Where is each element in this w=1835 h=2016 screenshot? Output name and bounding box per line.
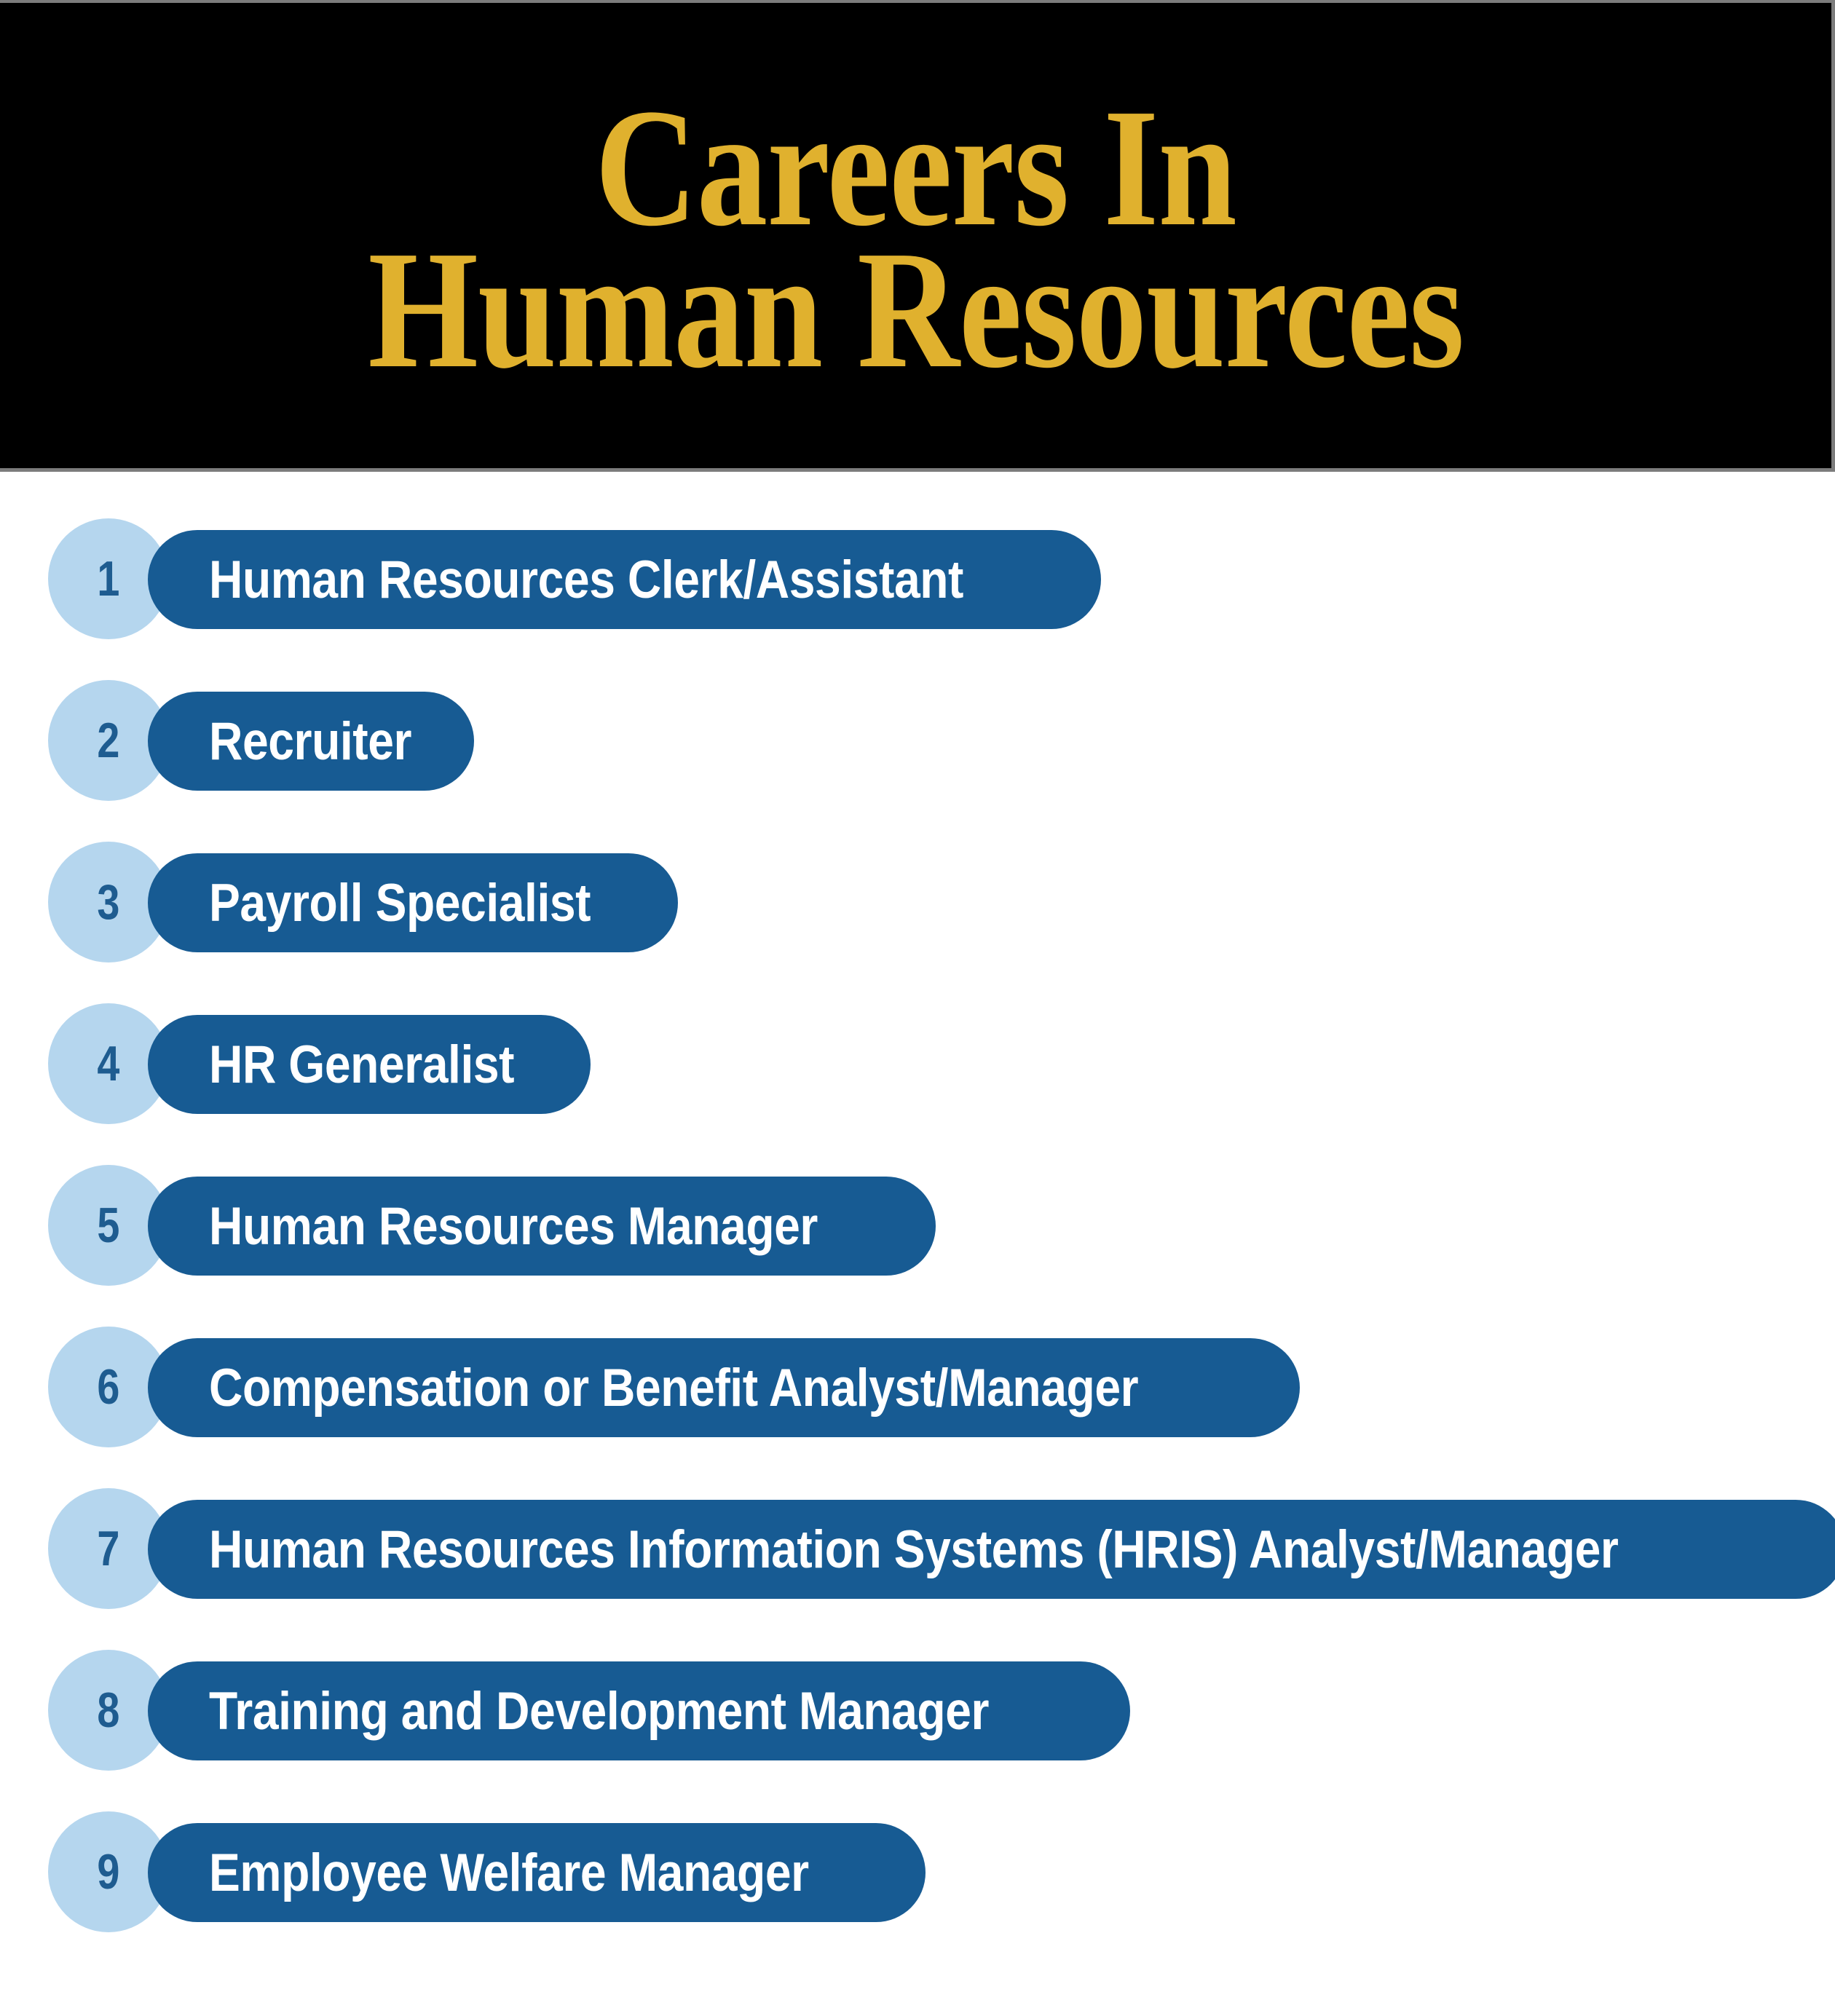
list-item-number: 9: [97, 1847, 119, 1897]
list-item-label: Human Resources Clerk/Assistant: [209, 553, 963, 606]
list-item-label: Human Resources Information Systems (HRI…: [209, 1523, 1618, 1576]
list-item-number: 6: [97, 1362, 119, 1412]
list-item-number: 7: [97, 1524, 119, 1573]
list-item-number: 1: [97, 554, 119, 604]
list-item[interactable]: 4 HR Generalist: [0, 995, 1835, 1156]
header-banner: Careers In Human Resources: [0, 0, 1835, 472]
career-list: 1 Human Resources Clerk/Assistant 2 Recr…: [0, 510, 1835, 1964]
list-item-pill[interactable]: Recruiter: [148, 692, 474, 791]
list-item-pill[interactable]: Payroll Specialist: [148, 853, 678, 952]
list-item-number: 5: [97, 1201, 119, 1250]
list-item[interactable]: 1 Human Resources Clerk/Assistant: [0, 510, 1835, 671]
list-item-pill[interactable]: Training and Development Manager: [148, 1661, 1130, 1760]
list-item[interactable]: 2 Recruiter: [0, 671, 1835, 833]
page-title-line-2: Human Resources: [368, 231, 1464, 390]
list-item[interactable]: 6 Compensation or Benefit Analyst/Manage…: [0, 1318, 1835, 1479]
list-item-pill[interactable]: Compensation or Benefit Analyst/Manager: [148, 1338, 1300, 1437]
list-item-number: 8: [97, 1685, 119, 1735]
list-item-label: Employee Welfare Manager: [209, 1846, 809, 1900]
list-item-label: Compensation or Benefit Analyst/Manager: [209, 1361, 1138, 1415]
list-item[interactable]: 8 Training and Development Manager: [0, 1641, 1835, 1803]
list-item-label: Payroll Specialist: [209, 877, 591, 930]
list-item-label: Recruiter: [209, 715, 411, 768]
list-item-label: Human Resources Manager: [209, 1200, 818, 1253]
list-item-number: 3: [97, 877, 119, 927]
list-item-pill[interactable]: Human Resources Manager: [148, 1177, 936, 1276]
list-item[interactable]: 5 Human Resources Manager: [0, 1156, 1835, 1318]
list-item-label: HR Generalist: [209, 1038, 514, 1091]
list-item-number: 4: [97, 1039, 119, 1088]
list-item[interactable]: 9 Employee Welfare Manager: [0, 1803, 1835, 1964]
list-item[interactable]: 7 Human Resources Information Systems (H…: [0, 1479, 1835, 1641]
list-item-label: Training and Development Manager: [209, 1685, 989, 1738]
list-item-pill[interactable]: Human Resources Information Systems (HRI…: [148, 1500, 1835, 1599]
list-item-pill[interactable]: HR Generalist: [148, 1015, 591, 1114]
list-item-pill[interactable]: Human Resources Clerk/Assistant: [148, 530, 1101, 629]
list-item-number: 2: [97, 716, 119, 765]
list-item-pill[interactable]: Employee Welfare Manager: [148, 1823, 926, 1922]
list-item[interactable]: 3 Payroll Specialist: [0, 833, 1835, 995]
